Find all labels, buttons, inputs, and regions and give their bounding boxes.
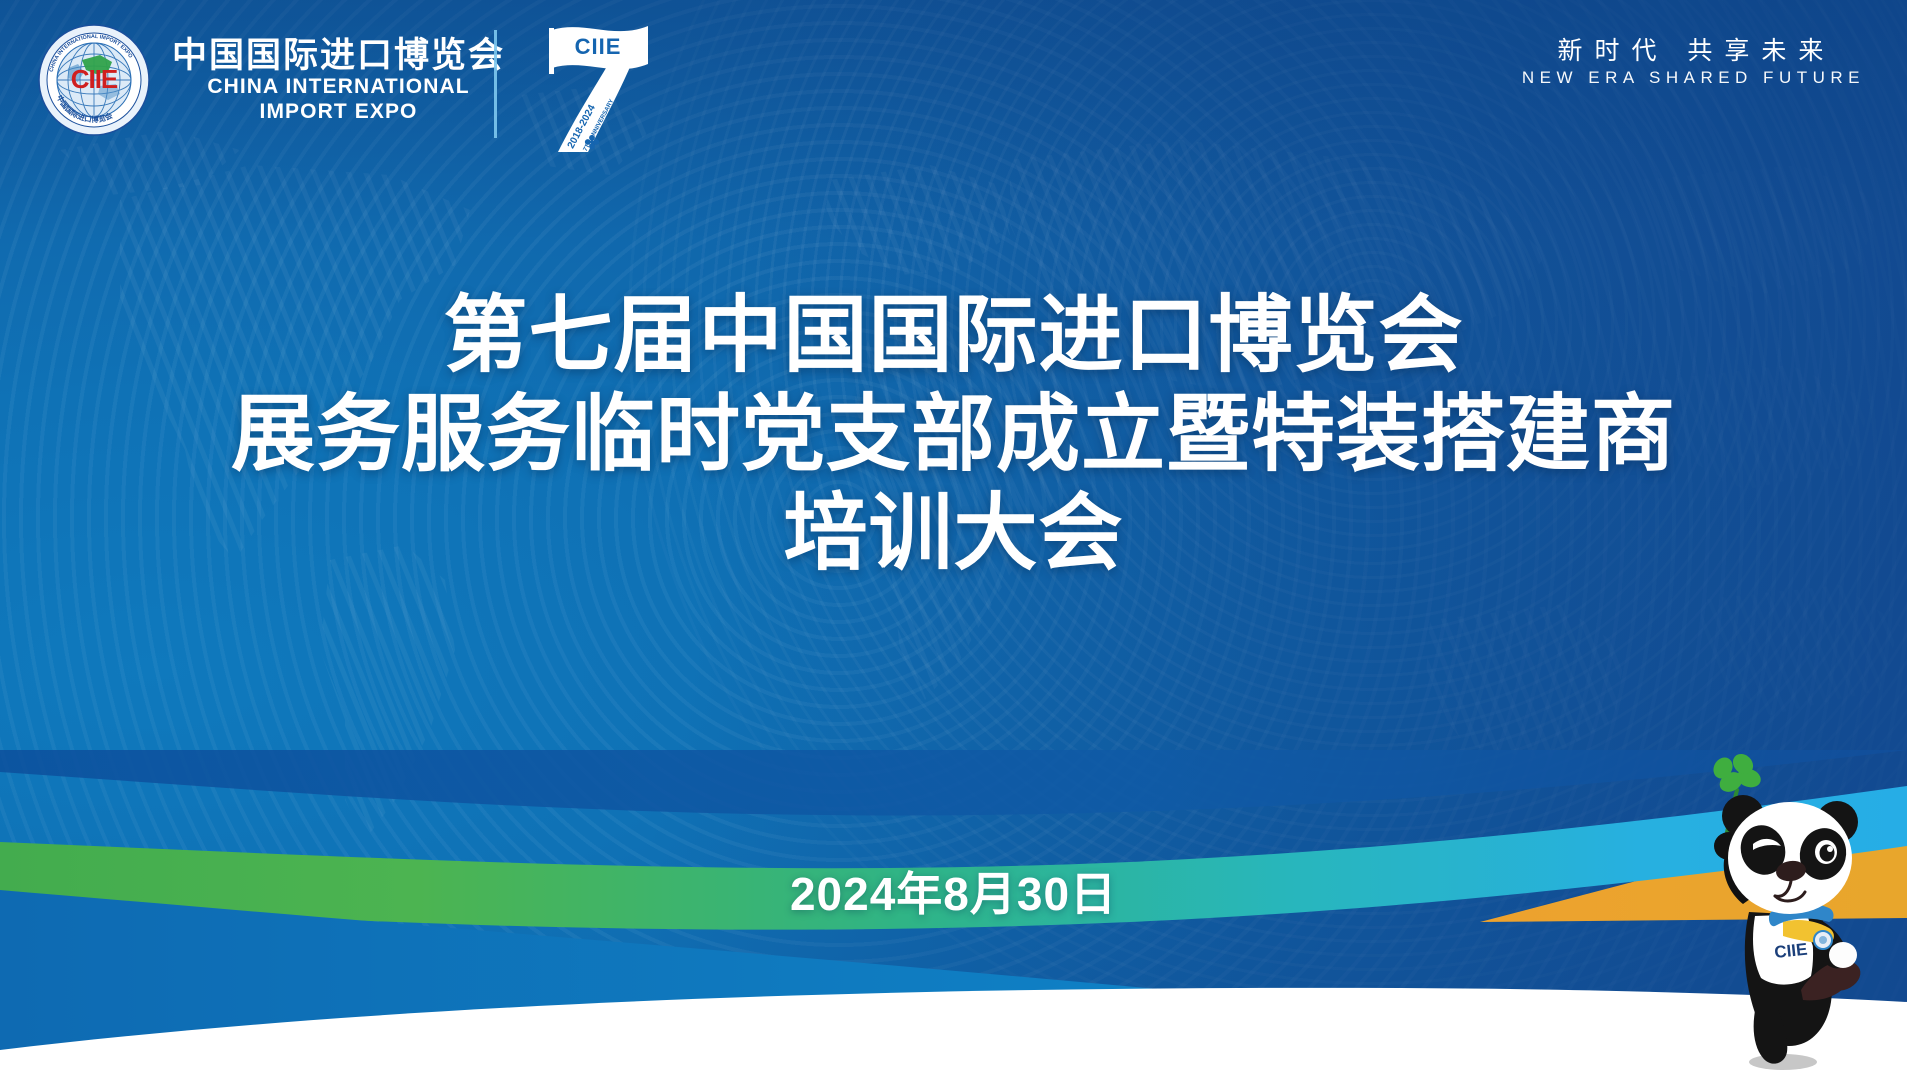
ciie-globe-emblem-icon: CIIE CHINA INTERNATIONAL IMPORT EXPO 中国国… <box>38 24 150 136</box>
poster-title: 第七届中国国际进口博览会 展务服务临时党支部成立暨特装搭建商 培训大会 <box>0 286 1907 583</box>
ciie-logo-wordmark: 中国国际进口博览会 CHINA INTERNATIONAL IMPORT EXP… <box>172 36 505 125</box>
event-slogan: 新时代 共享未来 NEW ERA SHARED FUTURE <box>1516 36 1865 89</box>
ciie-7th-anniversary-flag-icon: CIIE 2018-2024 7TH ANNIVERSARY <box>536 18 666 158</box>
title-line-3: 培训大会 <box>0 484 1907 583</box>
logo-english-line1: CHINA INTERNATIONAL <box>172 75 505 100</box>
poster-canvas: CIIE CHINA INTERNATIONAL IMPORT EXPO 中国国… <box>0 0 1907 1080</box>
header-divider <box>494 30 497 138</box>
slogan-english: NEW ERA SHARED FUTURE <box>1516 67 1865 89</box>
event-date: 2024年8月30日 <box>0 858 1907 924</box>
slogan-chinese: 新时代 共享未来 <box>1516 36 1865 67</box>
title-line-2: 展务服务临时党支部成立暨特装搭建商 <box>0 385 1907 484</box>
ciie-logo-lockup: CIIE CHINA INTERNATIONAL IMPORT EXPO 中国国… <box>38 24 505 136</box>
logo-english-line2: IMPORT EXPO <box>172 100 505 125</box>
poster-header: CIIE CHINA INTERNATIONAL IMPORT EXPO 中国国… <box>0 0 1907 170</box>
svg-text:CIIE: CIIE <box>1773 940 1808 962</box>
logo-chinese-name: 中国国际进口博览会 <box>172 36 505 75</box>
jinbao-panda-mascot-icon: CIIE <box>1671 750 1891 1080</box>
svg-text:CIIE: CIIE <box>575 34 622 59</box>
title-line-1: 第七届中国国际进口博览会 <box>0 286 1907 385</box>
svg-text:CIIE: CIIE <box>71 64 118 94</box>
